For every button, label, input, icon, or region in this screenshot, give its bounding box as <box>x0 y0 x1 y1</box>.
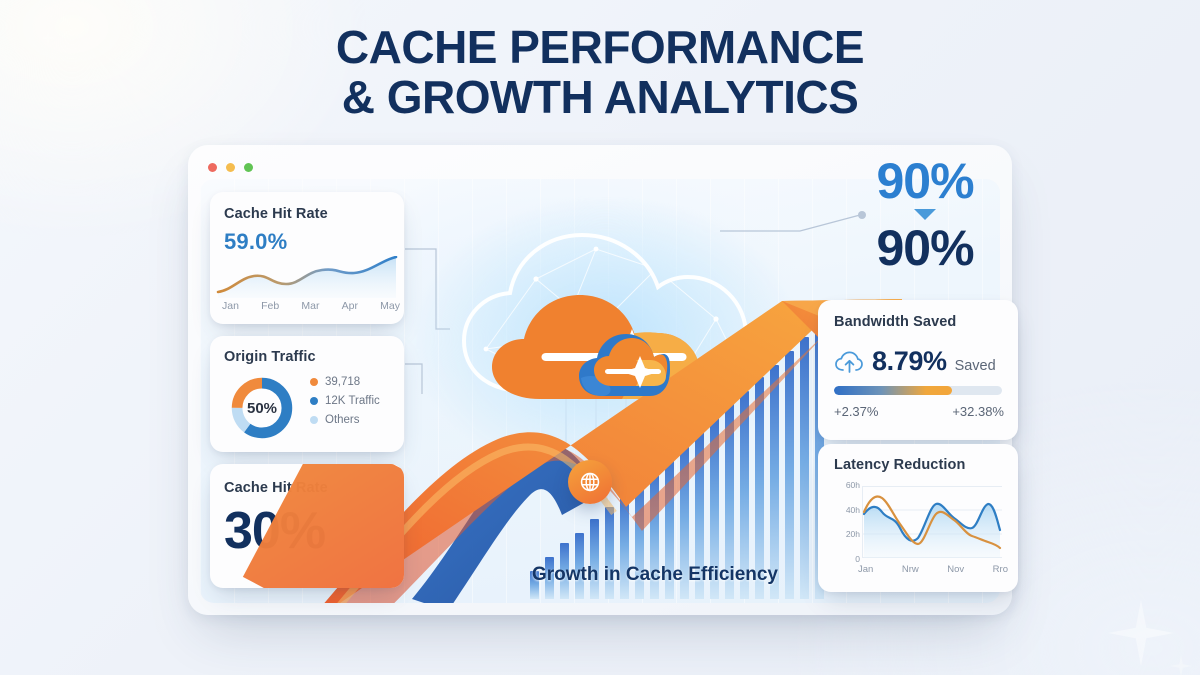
page-title-line-2: & GROWTH ANALYTICS <box>0 72 1200 122</box>
progress-fill <box>834 386 952 395</box>
page-title-line-1: CACHE PERFORMANCE <box>336 21 864 73</box>
card-bandwidth-saved: Bandwidth Saved 8.79% Saved +2.37% +32.3… <box>818 300 1018 440</box>
kpi-top-value: 90% <box>855 155 995 207</box>
latency-line-chart <box>862 486 1002 558</box>
donut-center-value: 50% <box>230 376 294 440</box>
delta-right: +32.38% <box>952 404 1004 419</box>
y-tick: 20h <box>846 529 860 539</box>
latency-x-axis: Jan Nrw Nov Rro <box>858 564 1008 575</box>
legend-item: Others <box>310 414 380 426</box>
card-title: Cache Hit Rate <box>224 206 404 222</box>
x-tick: Nrw <box>902 564 919 575</box>
x-tick: Feb <box>261 300 279 312</box>
card-origin-traffic: Origin Traffic 50% 39,718 12K Traffic Ot… <box>210 336 404 452</box>
delta-left: +2.37% <box>834 404 878 419</box>
window-controls[interactable] <box>208 163 253 172</box>
bandwidth-value: 8.79% <box>872 346 947 377</box>
hero-caption: Growth in Cache Efficiency <box>485 564 825 586</box>
legend-swatch <box>310 416 318 424</box>
sparkline-x-axis: Jan Feb Mar Apr May <box>222 300 400 312</box>
x-tick: Jan <box>222 300 239 312</box>
minimize-dot[interactable] <box>226 163 235 172</box>
legend-label: 39,718 <box>325 376 360 388</box>
cloud-upload-icon <box>834 350 864 374</box>
x-tick: Nov <box>947 564 964 575</box>
chevron-down-icon <box>914 209 936 220</box>
x-tick: Mar <box>301 300 319 312</box>
donut-legend: 39,718 12K Traffic Others <box>310 376 380 426</box>
legend-item: 12K Traffic <box>310 395 380 407</box>
card-title: Latency Reduction <box>834 457 1018 473</box>
sparkle-decoration <box>1108 600 1174 666</box>
legend-label: Others <box>325 414 360 426</box>
y-tick: 60h <box>846 480 860 490</box>
maximize-dot[interactable] <box>244 163 253 172</box>
y-tick: 0 <box>855 554 860 564</box>
legend-item: 39,718 <box>310 376 380 388</box>
progress-bar <box>834 386 1002 395</box>
kpi-bottom-value: 90% <box>855 222 995 274</box>
legend-swatch <box>310 378 318 386</box>
legend-label: 12K Traffic <box>325 395 380 407</box>
card-cache-hit-rate-trend: Cache Hit Rate 59.0% Jan Feb Mar Apr May <box>210 192 404 324</box>
sparkle-decoration <box>1170 655 1192 675</box>
card-latency-reduction: Latency Reduction 60h 40h 20h 0 <box>818 444 1018 592</box>
card-title: Bandwidth Saved <box>834 314 1018 330</box>
sparkline-chart <box>214 256 400 298</box>
x-tick: Apr <box>342 300 358 312</box>
bandwidth-value-row: 8.79% Saved <box>834 346 1018 377</box>
y-tick: 40h <box>846 505 860 515</box>
x-tick: Rro <box>993 564 1008 575</box>
latency-y-axis: 60h 40h 20h 0 <box>832 480 860 564</box>
card-value: 59.0% <box>224 229 404 255</box>
legend-swatch <box>310 397 318 405</box>
card-cache-hit-rate-headline: Cache Hit Rate 30% <box>210 464 404 588</box>
page-title: CACHE PERFORMANCE & GROWTH ANALYTICS <box>0 22 1200 122</box>
progress-footer: +2.37% +32.38% <box>834 404 1004 419</box>
bandwidth-suffix: Saved <box>955 358 996 374</box>
cloud-icon <box>576 330 672 400</box>
globe-badge[interactable] <box>568 460 612 504</box>
x-tick: May <box>380 300 400 312</box>
globe-icon <box>579 471 601 493</box>
donut-chart: 50% <box>230 376 294 440</box>
kpi-stack: 90% 90% <box>855 155 995 274</box>
poster-canvas: CACHE PERFORMANCE & GROWTH ANALYTICS <box>0 0 1200 675</box>
x-tick: Jan <box>858 564 873 575</box>
close-dot[interactable] <box>208 163 217 172</box>
card-title: Origin Traffic <box>224 349 404 365</box>
cloudflare-cloud-badge[interactable] <box>576 330 672 400</box>
